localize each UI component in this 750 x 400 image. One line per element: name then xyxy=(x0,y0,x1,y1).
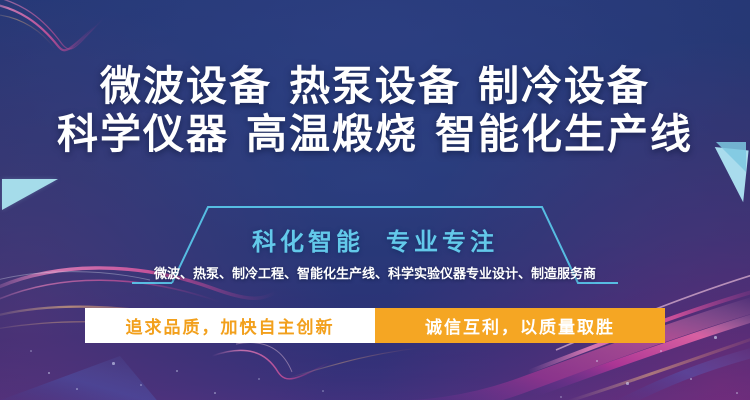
subtitle-left: 科化智能 xyxy=(252,229,364,256)
headline-term-microwave: 微波设备 xyxy=(100,63,272,109)
promotional-banner: 微波设备热泵设备制冷设备 科学仪器高温煅烧智能化生产线 科化智能专业专注 微波、… xyxy=(0,0,750,400)
triangle-left-icon xyxy=(2,179,58,210)
tagline: 微波、热泵、制冷工程、智能化生产线、科学实验仪器专业设计、制造服务商 xyxy=(0,263,750,282)
headline-term-instruments: 科学仪器 xyxy=(57,111,229,157)
slogan-button-integrity[interactable]: 诚信互利，以质量取胜 xyxy=(375,308,665,343)
subtitle: 科化智能专业专注 xyxy=(0,222,750,257)
headline-line-1: 微波设备热泵设备制冷设备 xyxy=(0,62,750,110)
headline-term-calcination: 高温煅烧 xyxy=(246,111,418,157)
headline-term-smartline: 智能化生产线 xyxy=(435,111,693,157)
headline: 微波设备热泵设备制冷设备 科学仪器高温煅烧智能化生产线 xyxy=(0,62,750,158)
slogan-button-quality[interactable]: 追求品质，加快自主创新 xyxy=(85,308,375,343)
headline-term-refrigeration: 制冷设备 xyxy=(478,63,650,109)
subtitle-right: 专业专注 xyxy=(386,229,498,256)
slogan-bar: 追求品质，加快自主创新 诚信互利，以质量取胜 xyxy=(85,308,665,343)
headline-line-2: 科学仪器高温煅烧智能化生产线 xyxy=(0,110,750,158)
headline-term-heatpump: 热泵设备 xyxy=(289,63,461,109)
